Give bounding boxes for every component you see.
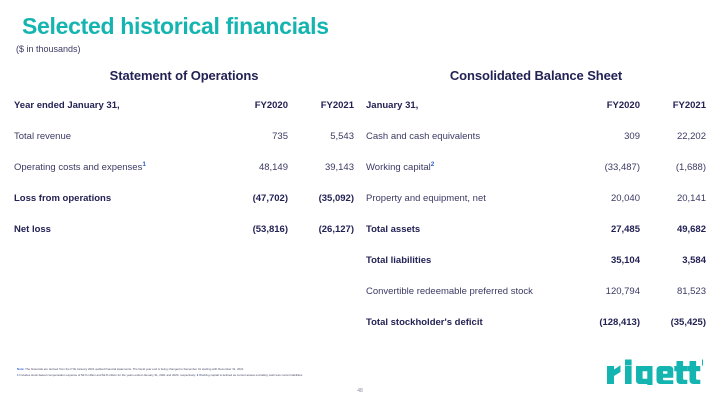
table-row: Property and equipment, net 20,040 20,14… — [366, 193, 706, 224]
row-label: Total liabilities — [366, 255, 574, 286]
row-value-fy2021: 20,141 — [640, 193, 706, 224]
row-label: Property and equipment, net — [366, 193, 574, 224]
table-row: Total assets 27,485 49,682 — [366, 224, 706, 255]
row-label-text: Total stockholder's deficit — [366, 317, 483, 328]
row-label-text: Total liabilities — [366, 255, 431, 266]
rigetti-logo — [605, 358, 703, 386]
row-value-fy2020: (33,487) — [574, 162, 640, 193]
row-label-text: Total assets — [366, 224, 420, 235]
row-label: Total assets — [366, 224, 574, 255]
row-value-fy2021: 39,143 — [288, 162, 354, 193]
footnote-line-2b-text: Working capital is defined as current as… — [198, 373, 302, 377]
row-label-text: Net loss — [14, 224, 51, 235]
row-value-fy2020: (47,702) — [222, 193, 288, 224]
panel-heading-statement-of-operations: Statement of Operations — [14, 68, 354, 83]
row-value-fy2021: (26,127) — [288, 224, 354, 255]
page-title: Selected historical financials — [22, 13, 329, 40]
row-value-fy2021: (35,092) — [288, 193, 354, 224]
row-label-text: Working capital — [366, 162, 431, 173]
row-value-fy2020: 735 — [222, 131, 288, 162]
table-row: Loss from operations (47,702) (35,092) — [14, 193, 354, 224]
row-label: Working capital2 — [366, 162, 574, 193]
units-subtitle: ($ in thousands) — [16, 44, 81, 54]
footnotes: Note: The financials are derived from th… — [17, 367, 417, 378]
row-value-fy2021: 22,202 — [640, 131, 706, 162]
table-row: Convertible redeemable preferred stock 1… — [366, 286, 706, 317]
row-value-fy2020: (128,413) — [574, 317, 640, 348]
footnote-marker-2: 2 — [431, 161, 435, 168]
row-value-fy2020: 20,040 — [574, 193, 640, 224]
panel-consolidated-balance-sheet: Consolidated Balance Sheet January 31, F… — [366, 68, 706, 348]
table-row: Total liabilities 35,104 3,584 — [366, 255, 706, 286]
footnote-line-2: 1 Includes stock-based compensation expe… — [17, 373, 417, 379]
column-header-fy2020: FY2020 — [222, 100, 288, 131]
row-value-fy2021: (1,688) — [640, 162, 706, 193]
table-row: Cash and cash equivalents 309 22,202 — [366, 131, 706, 162]
row-label-text: Convertible redeemable preferred stock — [366, 286, 533, 297]
row-value-fy2021: 49,682 — [640, 224, 706, 255]
column-header-fy2020: FY2020 — [574, 100, 640, 131]
page-number: 48 — [0, 388, 720, 394]
table-row: Total stockholder's deficit (128,413) (3… — [366, 317, 706, 348]
row-value-fy2020: (53,816) — [222, 224, 288, 255]
row-label: Cash and cash equivalents — [366, 131, 574, 162]
row-value-fy2020: 27,485 — [574, 224, 640, 255]
row-label-text: Loss from operations — [14, 193, 111, 204]
table-header-row: Year ended January 31, FY2020 FY2021 — [14, 100, 354, 131]
row-label: Convertible redeemable preferred stock — [366, 286, 574, 317]
panel-statement-of-operations: Statement of Operations Year ended Janua… — [14, 68, 354, 255]
footnote-line-2a-text: Includes stock-based compensation expens… — [19, 373, 197, 377]
row-label: Net loss — [14, 224, 222, 255]
row-value-fy2020: 120,794 — [574, 286, 640, 317]
row-value-fy2020: 48,149 — [222, 162, 288, 193]
column-header-period: January 31, — [366, 100, 574, 131]
table-consolidated-balance-sheet: January 31, FY2020 FY2021 Cash and cash … — [366, 100, 706, 348]
row-label: Total stockholder's deficit — [366, 317, 574, 348]
row-label: Loss from operations — [14, 193, 222, 224]
table-row: Operating costs and expenses1 48,149 39,… — [14, 162, 354, 193]
row-label: Operating costs and expenses1 — [14, 162, 222, 193]
footnote-line-1-text: The financials are derived from the FYE … — [24, 367, 243, 371]
row-value-fy2021: 81,523 — [640, 286, 706, 317]
slide: Selected historical financials ($ in tho… — [0, 0, 720, 405]
table-row: Working capital2 (33,487) (1,688) — [366, 162, 706, 193]
row-label-text: Property and equipment, net — [366, 193, 486, 204]
row-label: Total revenue — [14, 131, 222, 162]
table-statement-of-operations: Year ended January 31, FY2020 FY2021 Tot… — [14, 100, 354, 255]
row-value-fy2020: 35,104 — [574, 255, 640, 286]
row-label-text: Operating costs and expenses — [14, 162, 142, 173]
row-label-text: Cash and cash equivalents — [366, 131, 480, 142]
column-header-period: Year ended January 31, — [14, 100, 222, 131]
column-header-fy2021: FY2021 — [288, 100, 354, 131]
row-value-fy2020: 309 — [574, 131, 640, 162]
rigetti-wordmark-icon — [605, 359, 703, 385]
row-label-text: Total revenue — [14, 131, 71, 142]
table-header-row: January 31, FY2020 FY2021 — [366, 100, 706, 131]
row-value-fy2021: 5,543 — [288, 131, 354, 162]
row-value-fy2021: (35,425) — [640, 317, 706, 348]
table-row: Net loss (53,816) (26,127) — [14, 224, 354, 255]
footnote-marker-1: 1 — [142, 161, 146, 168]
panel-heading-consolidated-balance-sheet: Consolidated Balance Sheet — [366, 68, 706, 83]
column-header-fy2021: FY2021 — [640, 100, 706, 131]
row-value-fy2021: 3,584 — [640, 255, 706, 286]
table-row: Total revenue 735 5,543 — [14, 131, 354, 162]
